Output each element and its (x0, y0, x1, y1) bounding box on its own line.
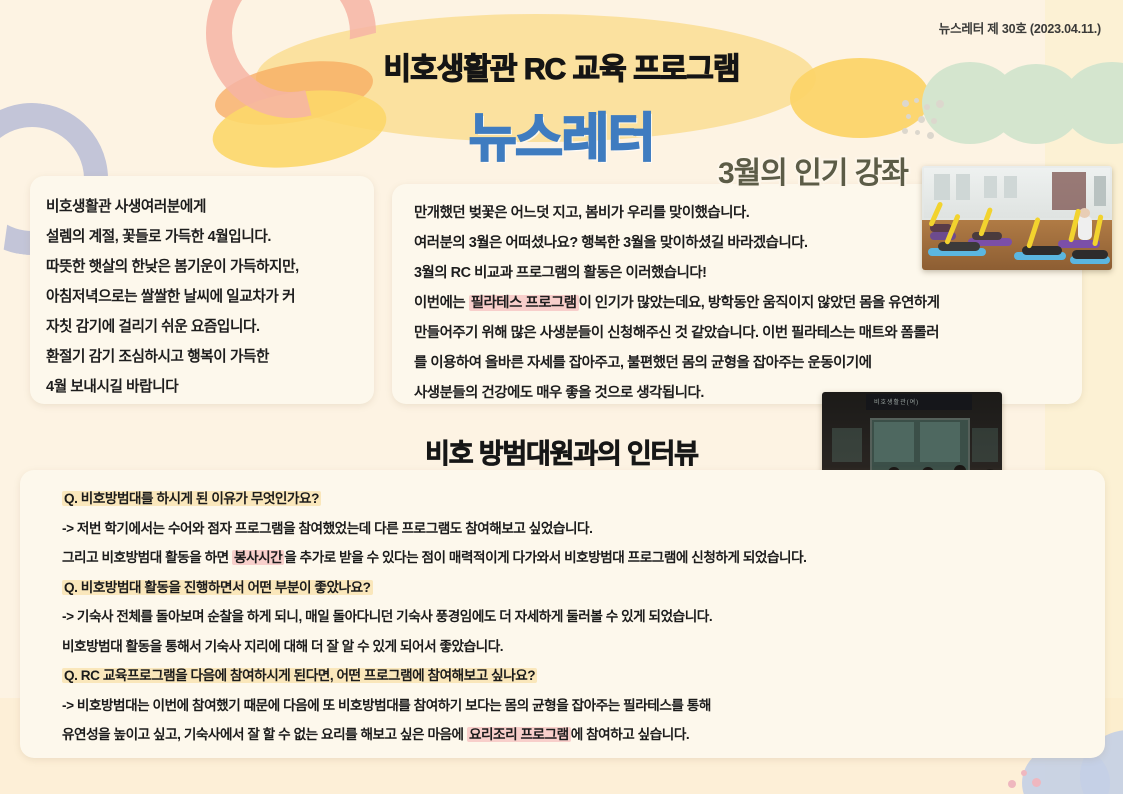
main-line-6: 를 이용하여 올바른 자세를 잡아주고, 불편했던 몸의 균형을 잡아주는 운동… (414, 348, 1072, 378)
interview-answer-1-line-2: 그리고 비호방범대 활동을 하면 봉사시간을 추가로 받을 수 있다는 점이 매… (62, 543, 1091, 573)
interview-answer-1-line-1: -> 저번 학기에서는 수어와 점자 프로그램을 참여했었는데 다른 프로그램도… (62, 514, 1091, 544)
pilates-highlight: 필라테스 프로그램 (469, 295, 579, 311)
greeting-text: 비호생활관 사생여러분에게 설렘의 계절, 꽃들로 가득한 4월입니다. 따뜻한… (46, 192, 362, 402)
page-title: 비호생활관 RC 교육 프로그램 (0, 44, 1123, 88)
interview-question-1: Q. 비호방범대를 하시게 된 이유가 무엇인가요? (62, 484, 1091, 514)
main-line-5: 만들어주기 위해 많은 사생분들이 신청해주신 것 같았습니다. 이번 필라테스… (414, 318, 1072, 348)
page-subtitle: 뉴스레터 (0, 96, 1123, 171)
popular-course-heading: 3월의 인기 강좌 (718, 148, 908, 192)
volunteer-hours-highlight: 봉사시간 (232, 550, 284, 565)
interview-question-3: Q. RC 교육프로그램을 다음에 참여하시게 된다면, 어떤 프로그램에 참여… (62, 661, 1091, 691)
dorm-sign-text: 비호생활관(여) (874, 397, 919, 406)
interview-card: Q. 비호방범대를 하시게 된 이유가 무엇인가요? -> 저번 학기에서는 수… (20, 470, 1105, 758)
dorm-sign: 비호생활관(여) (866, 394, 972, 410)
greeting-line-6: 4월 보내시길 바랍니다 (46, 372, 362, 402)
cooking-program-highlight: 요리조리 프로그램 (467, 727, 571, 742)
greeting-line-5: 환절기 감기 조심하시고 행복이 가득한 (46, 342, 362, 372)
dot-cluster-bottom-right-decor (1008, 768, 1068, 794)
interview-qa-list: Q. 비호방범대를 하시게 된 이유가 무엇인가요? -> 저번 학기에서는 수… (62, 484, 1091, 750)
greeting-heading: 비호생활관 사생여러분에게 (46, 192, 362, 222)
interview-answer-2-line-2: 비호방범대 활동을 통해서 기숙사 지리에 대해 더 잘 알 수 있게 되어서 … (62, 632, 1091, 662)
greeting-line-2: 따뜻한 햇살의 한낮은 봄기운이 가득하지만, (46, 252, 362, 282)
interview-answer-3-line-1: -> 비호방범대는 이번에 참여했기 때문에 다음에 또 비호방범대를 참여하기… (62, 691, 1091, 721)
greeting-line-4: 자칫 감기에 걸리기 쉬운 요즘입니다. (46, 312, 362, 342)
interview-answer-3-line-2: 유연성을 높이고 싶고, 기숙사에서 잘 할 수 없는 요리를 해보고 싶은 마… (62, 720, 1091, 750)
interview-question-2: Q. 비호방범대 활동을 진행하면서 어떤 부분이 좋았나요? (62, 573, 1091, 603)
interview-answer-2-line-1: -> 기숙사 전체를 돌아보며 순찰을 하게 되니, 매일 돌아다니던 기숙사 … (62, 602, 1091, 632)
greeting-card: 비호생활관 사생여러분에게 설렘의 계절, 꽃들로 가득한 4월입니다. 따뜻한… (30, 176, 374, 404)
main-line-4: 이번에는 필라테스 프로그램이 인기가 많았는데요, 방학동안 움직이지 않았던… (414, 288, 1072, 318)
newsletter-page: 뉴스레터 제 30호 (2023.04.11.) 비호생활관 RC 교육 프로그… (0, 0, 1123, 794)
main-line-4-post: 이 인기가 많았는데요, 방학동안 움직이지 않았던 몸을 유연하게 (579, 295, 940, 311)
greeting-line-3: 아침저녁으로는 쌀쌀한 날씨에 일교차가 커 (46, 282, 362, 312)
pilates-class-photo (922, 166, 1112, 270)
issue-label: 뉴스레터 제 30호 (2023.04.11.) (939, 18, 1101, 37)
greeting-line-1: 설렘의 계절, 꽃들로 가득한 4월입니다. (46, 222, 362, 252)
main-line-4-pre: 이번에는 (414, 295, 469, 311)
